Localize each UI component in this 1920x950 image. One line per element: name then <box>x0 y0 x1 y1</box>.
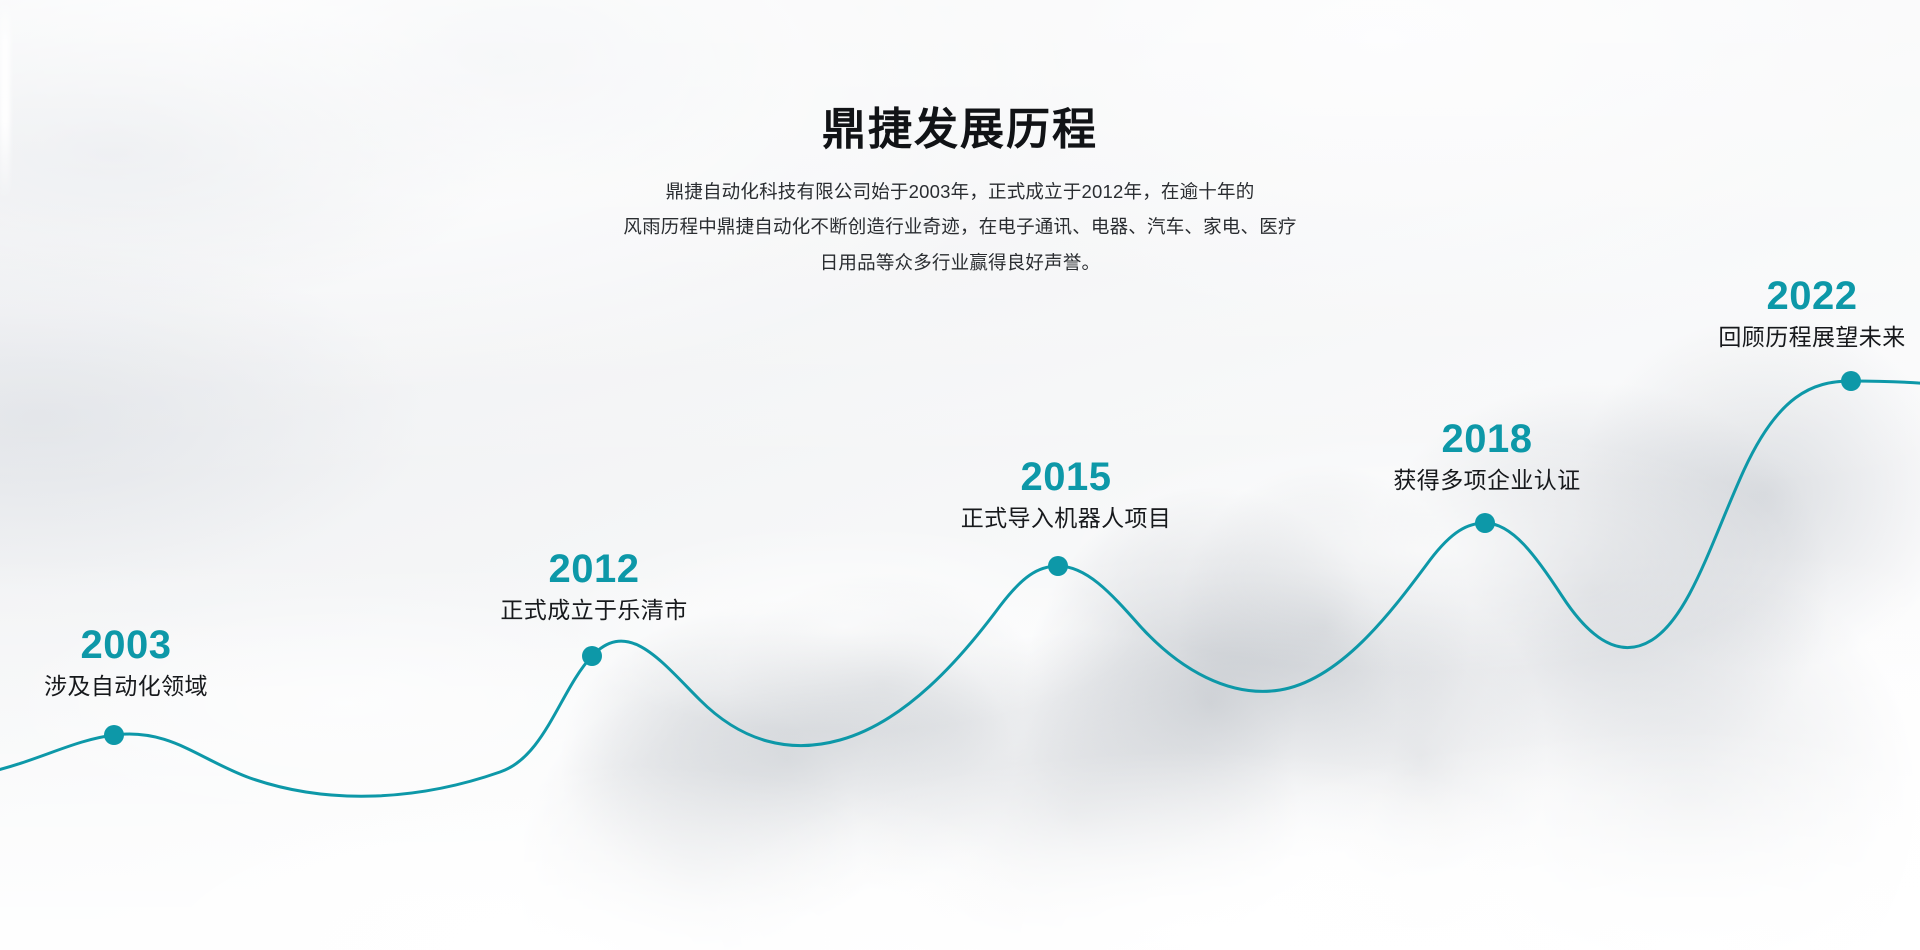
header: 鼎捷发展历程 鼎捷自动化科技有限公司始于2003年，正式成立于2012年，在逾十… <box>0 104 1920 280</box>
milestone-year-2003: 2003 <box>44 624 208 666</box>
milestone-label-2003: 涉及自动化领域 <box>44 672 208 701</box>
timeline-dot-2012[interactable] <box>582 646 602 666</box>
milestone-2015[interactable]: 2015 正式导入机器人项目 <box>961 456 1172 533</box>
milestone-2003[interactable]: 2003 涉及自动化领域 <box>44 624 208 701</box>
timeline-dot-2018[interactable] <box>1475 513 1495 533</box>
milestone-year-2015: 2015 <box>961 456 1172 498</box>
page-subtitle-line-3: 日用品等众多行业赢得良好声誉。 <box>550 245 1370 281</box>
timeline-dot-2015[interactable] <box>1048 556 1068 576</box>
page-title: 鼎捷发展历程 <box>0 104 1920 156</box>
timeline-dots <box>104 371 1861 745</box>
milestone-label-2015: 正式导入机器人项目 <box>961 504 1172 533</box>
milestone-year-2022: 2022 <box>1718 275 1905 317</box>
milestone-year-2012: 2012 <box>500 548 687 590</box>
milestone-2012[interactable]: 2012 正式成立于乐清市 <box>500 548 687 625</box>
timeline-curve-path <box>0 381 1920 796</box>
milestone-label-2012: 正式成立于乐清市 <box>500 596 687 625</box>
page-subtitle-line-2: 风雨历程中鼎捷自动化不断创造行业奇迹，在电子通讯、电器、汽车、家电、医疗 <box>550 209 1370 245</box>
milestone-label-2022: 回顾历程展望未来 <box>1718 323 1905 352</box>
page-subtitle-line-1: 鼎捷自动化科技有限公司始于2003年，正式成立于2012年，在逾十年的 <box>550 174 1370 210</box>
timeline-poster: 鼎捷发展历程 鼎捷自动化科技有限公司始于2003年，正式成立于2012年，在逾十… <box>0 0 1920 950</box>
milestone-2022[interactable]: 2022 回顾历程展望未来 <box>1718 275 1905 352</box>
milestone-year-2018: 2018 <box>1393 418 1580 460</box>
milestone-label-2018: 获得多项企业认证 <box>1393 466 1580 495</box>
timeline-dot-2022[interactable] <box>1841 371 1861 391</box>
page-subtitle: 鼎捷自动化科技有限公司始于2003年，正式成立于2012年，在逾十年的 风雨历程… <box>550 174 1370 281</box>
milestone-2018[interactable]: 2018 获得多项企业认证 <box>1393 418 1580 495</box>
timeline-dot-2003[interactable] <box>104 725 124 745</box>
